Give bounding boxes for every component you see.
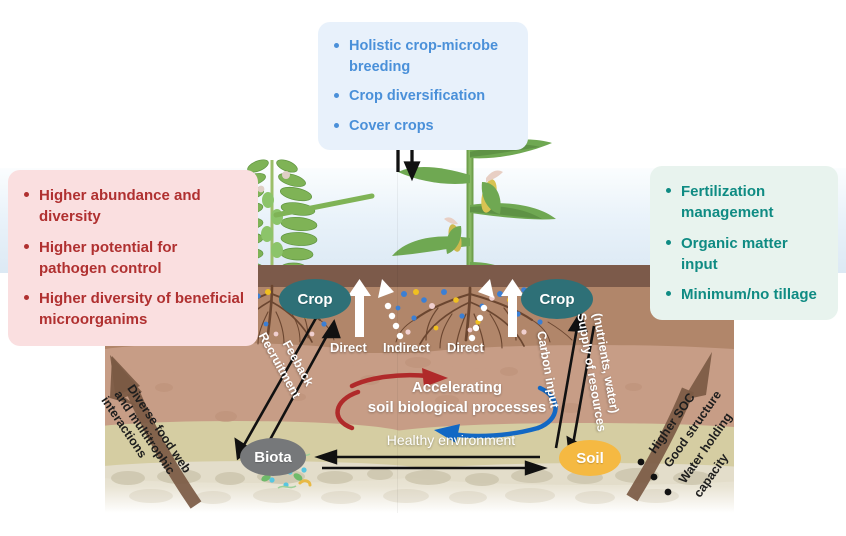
list-item: Crop diversification bbox=[332, 86, 512, 107]
crop-management-list: Holistic crop-microbe breeding Crop dive… bbox=[332, 36, 512, 136]
list-item: Cover crops bbox=[332, 116, 512, 137]
list-item: Higher diversity of beneficial microorga… bbox=[22, 288, 246, 331]
callout-crop-management: Holistic crop-microbe breeding Crop dive… bbox=[318, 22, 528, 150]
list-item: Holistic crop-microbe breeding bbox=[332, 36, 512, 77]
soil-management-list: Fertilization management Organic matter … bbox=[664, 181, 826, 305]
list-item: Higher abundance and diversity bbox=[22, 185, 246, 228]
list-item: Fertilization management bbox=[664, 181, 826, 224]
list-item: Higher potential for pathogen control bbox=[22, 237, 246, 280]
figure-canvas: Crop Crop Biota Soil Direct Indirect Dir… bbox=[0, 0, 846, 536]
list-item: Minimum/no tillage bbox=[664, 284, 826, 305]
callout-soil-management: Fertilization management Organic matter … bbox=[650, 166, 838, 320]
list-item: Organic matter input bbox=[664, 233, 826, 276]
biota-benefits-list: Higher abundance and diversity Higher po… bbox=[22, 185, 246, 331]
callout-biota-benefits: Higher abundance and diversity Higher po… bbox=[8, 170, 258, 346]
